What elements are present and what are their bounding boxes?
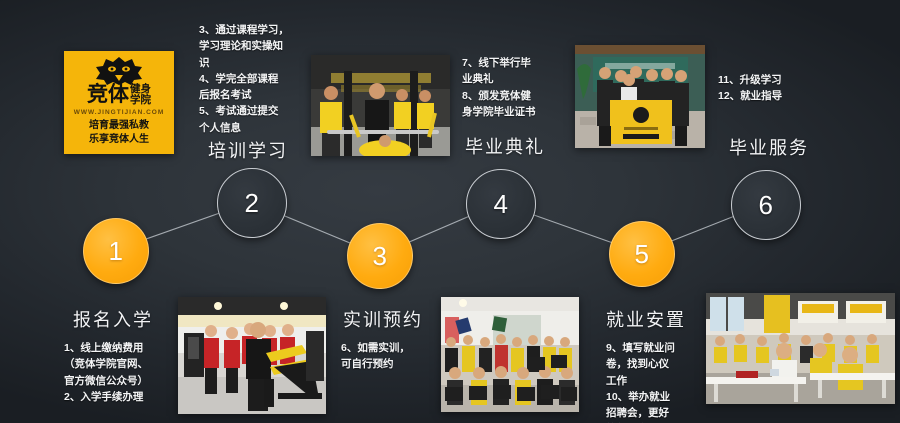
logo-website-url: WWW.JINGTIJIAN.COM [64,109,174,116]
step-1-heading: 报名入学 [73,306,153,332]
step-3-detail: 6、如需实训， 可自行预约 [341,340,451,373]
step-node-6[interactable]: 6 [731,170,801,240]
step-4-detail: 7、线下举行毕 业典礼 8、颁发竞体健 身学院毕业证书 [462,55,572,120]
step-3-heading: 实训预约 [343,306,423,332]
step-4-heading: 毕业典礼 [465,133,545,159]
infographic-canvas: 竞体健身学院 WWW.JINGTIJIAN.COM 培育最强私教 乐享竞体人生 [0,0,900,423]
step-node-5[interactable]: 5 [609,221,675,287]
step-node-2[interactable]: 2 [217,168,287,238]
graduation-banner-group-photo [575,45,705,148]
step-node-6-number: 6 [759,190,774,221]
step-6-heading: 毕业服务 [729,134,809,160]
logo-word-stack: 健身学院 [130,84,151,106]
step-node-4-number: 4 [494,189,509,220]
step-2-detail: 3、通过课程学习， 学习理论和实操知 识 4、学完全部课程 后报名考试 5、考试… [199,22,314,136]
step-1-detail: 1、线上缴纳费用 （竞体学院官网、 官方微信公众号） 2、入学手续办理 [64,340,179,405]
step-node-1-number: 1 [109,236,124,267]
step-5-detail: 9、填写就业问 卷，找到心仪 工作 10、举办就业 招聘会，更好 的就业安排 [606,340,706,423]
logo-word-primary: 竞体 [87,82,129,106]
step-node-5-number: 5 [635,239,650,270]
logo-slogan-line-1: 培育最强私教 [64,119,174,133]
step-node-2-number: 2 [245,188,260,219]
step-2-heading: 培训学习 [208,137,288,163]
step-6-detail: 11、升级学习 12、就业指导 [718,72,838,105]
classroom-lecture-photo [706,293,895,404]
gym-equipment-orientation-photo [178,297,326,414]
bench-press-training-photo [311,55,450,156]
step-node-3-number: 3 [373,241,388,272]
academy-logo-card: 竞体健身学院 WWW.JINGTIJIAN.COM 培育最强私教 乐享竞体人生 [64,51,174,154]
certificate-group-photo [441,297,579,412]
step-node-1[interactable]: 1 [83,218,149,284]
step-5-heading: 就业安置 [606,306,686,332]
logo-slogan-line-2: 乐享竞体人生 [64,133,174,147]
logo-wordmark: 竞体健身学院 [64,84,174,106]
step-node-3[interactable]: 3 [347,223,413,289]
step-node-4[interactable]: 4 [466,169,536,239]
logo-slogan: 培育最强私教 乐享竞体人生 [64,119,174,146]
